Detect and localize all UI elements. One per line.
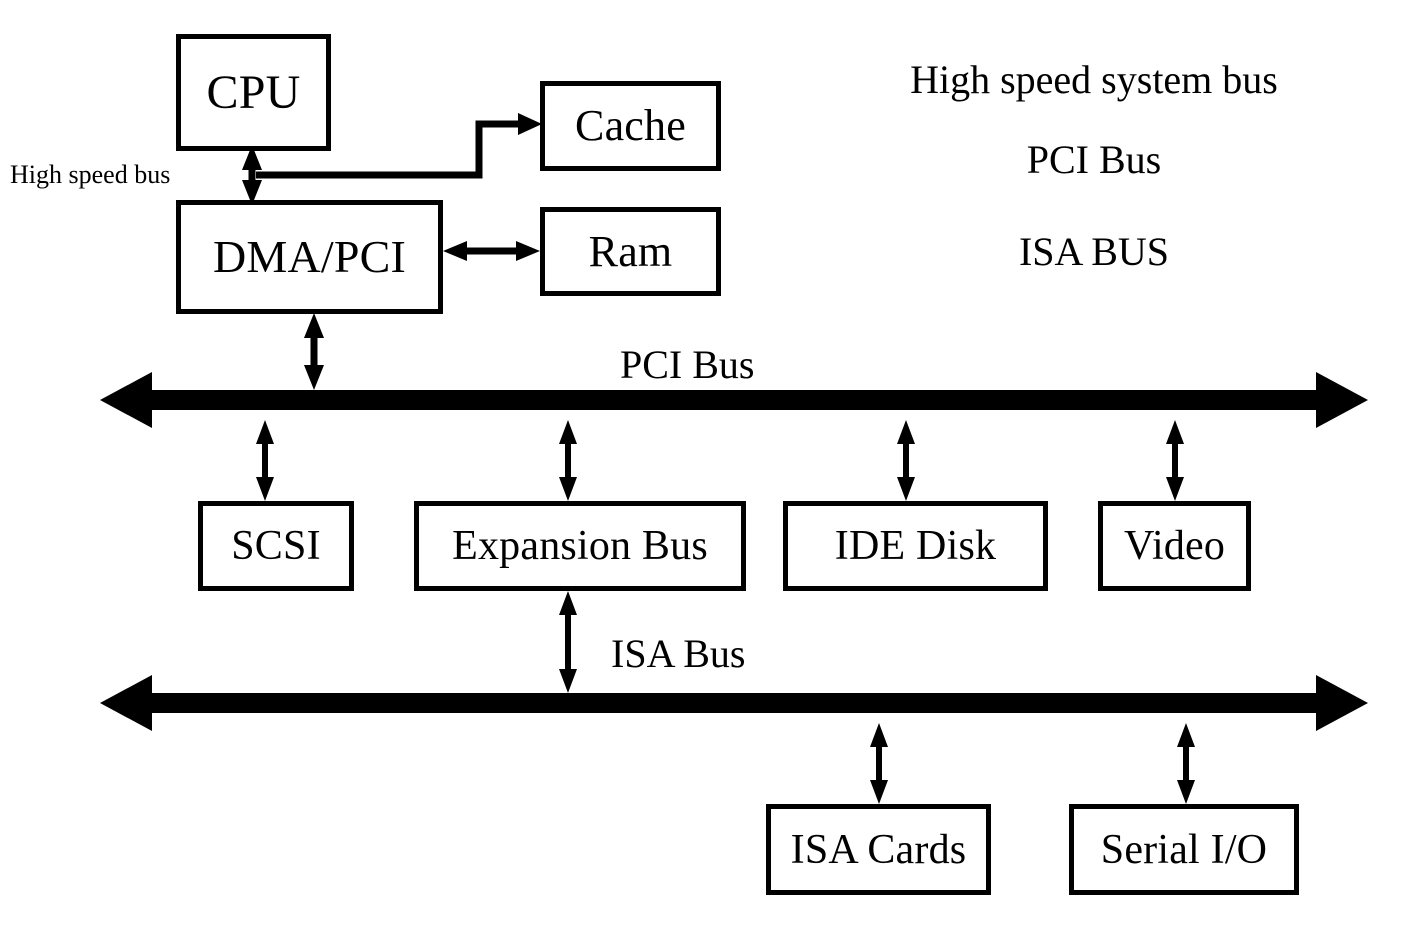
legend-isa-bus: ISA BUS: [794, 232, 1394, 272]
high-speed-bus-label: High speed bus: [10, 162, 170, 188]
pci-bus-to-ide-disk-link: [897, 420, 915, 501]
isa-bus-to-isa-cards-link: [870, 723, 888, 804]
node-video[interactable]: Video: [1098, 501, 1251, 591]
node-ram-label: Ram: [589, 230, 673, 274]
node-ide-disk-label: IDE Disk: [835, 525, 996, 567]
node-expansion-bus[interactable]: Expansion Bus: [414, 501, 746, 591]
pci-bus-to-video-link: [1166, 420, 1184, 501]
pci-bus-to-expansion-link: [559, 420, 577, 501]
pci-bus-to-scsi-link: [256, 420, 274, 501]
node-scsi-label: SCSI: [231, 525, 321, 567]
node-cache[interactable]: Cache: [540, 81, 721, 171]
legend-pci-bus: PCI Bus: [794, 140, 1394, 180]
node-ram[interactable]: Ram: [540, 207, 721, 296]
dma-to-pci-bus-link: [304, 313, 324, 390]
node-ide-disk[interactable]: IDE Disk: [783, 501, 1048, 591]
expansion-to-isa-bus-link: [559, 591, 577, 693]
legend-high-speed-system-bus: High speed system bus: [794, 60, 1394, 100]
node-cpu-label: CPU: [207, 69, 301, 117]
node-scsi[interactable]: SCSI: [198, 501, 354, 591]
node-cpu[interactable]: CPU: [176, 34, 331, 151]
node-serial-io[interactable]: Serial I/O: [1069, 804, 1299, 895]
diagram-canvas: CPU Cache DMA/PCI Ram SCSI Expansion Bus…: [0, 0, 1416, 926]
node-cache-label: Cache: [575, 104, 686, 148]
pci-bus-label: PCI Bus: [620, 345, 755, 385]
node-isa-cards-label: ISA Cards: [791, 829, 967, 871]
isa-bus-bar: [100, 675, 1368, 731]
node-expansion-bus-label: Expansion Bus: [452, 525, 708, 567]
dma-to-ram-link: [443, 241, 540, 261]
isa-bus-to-serial-io-link: [1177, 723, 1195, 804]
node-video-label: Video: [1124, 525, 1225, 567]
node-isa-cards[interactable]: ISA Cards: [766, 804, 991, 895]
node-dma-pci-label: DMA/PCI: [213, 234, 406, 280]
node-dma-pci[interactable]: DMA/PCI: [176, 200, 443, 314]
node-serial-io-label: Serial I/O: [1101, 829, 1267, 871]
isa-bus-label: ISA Bus: [611, 634, 746, 674]
